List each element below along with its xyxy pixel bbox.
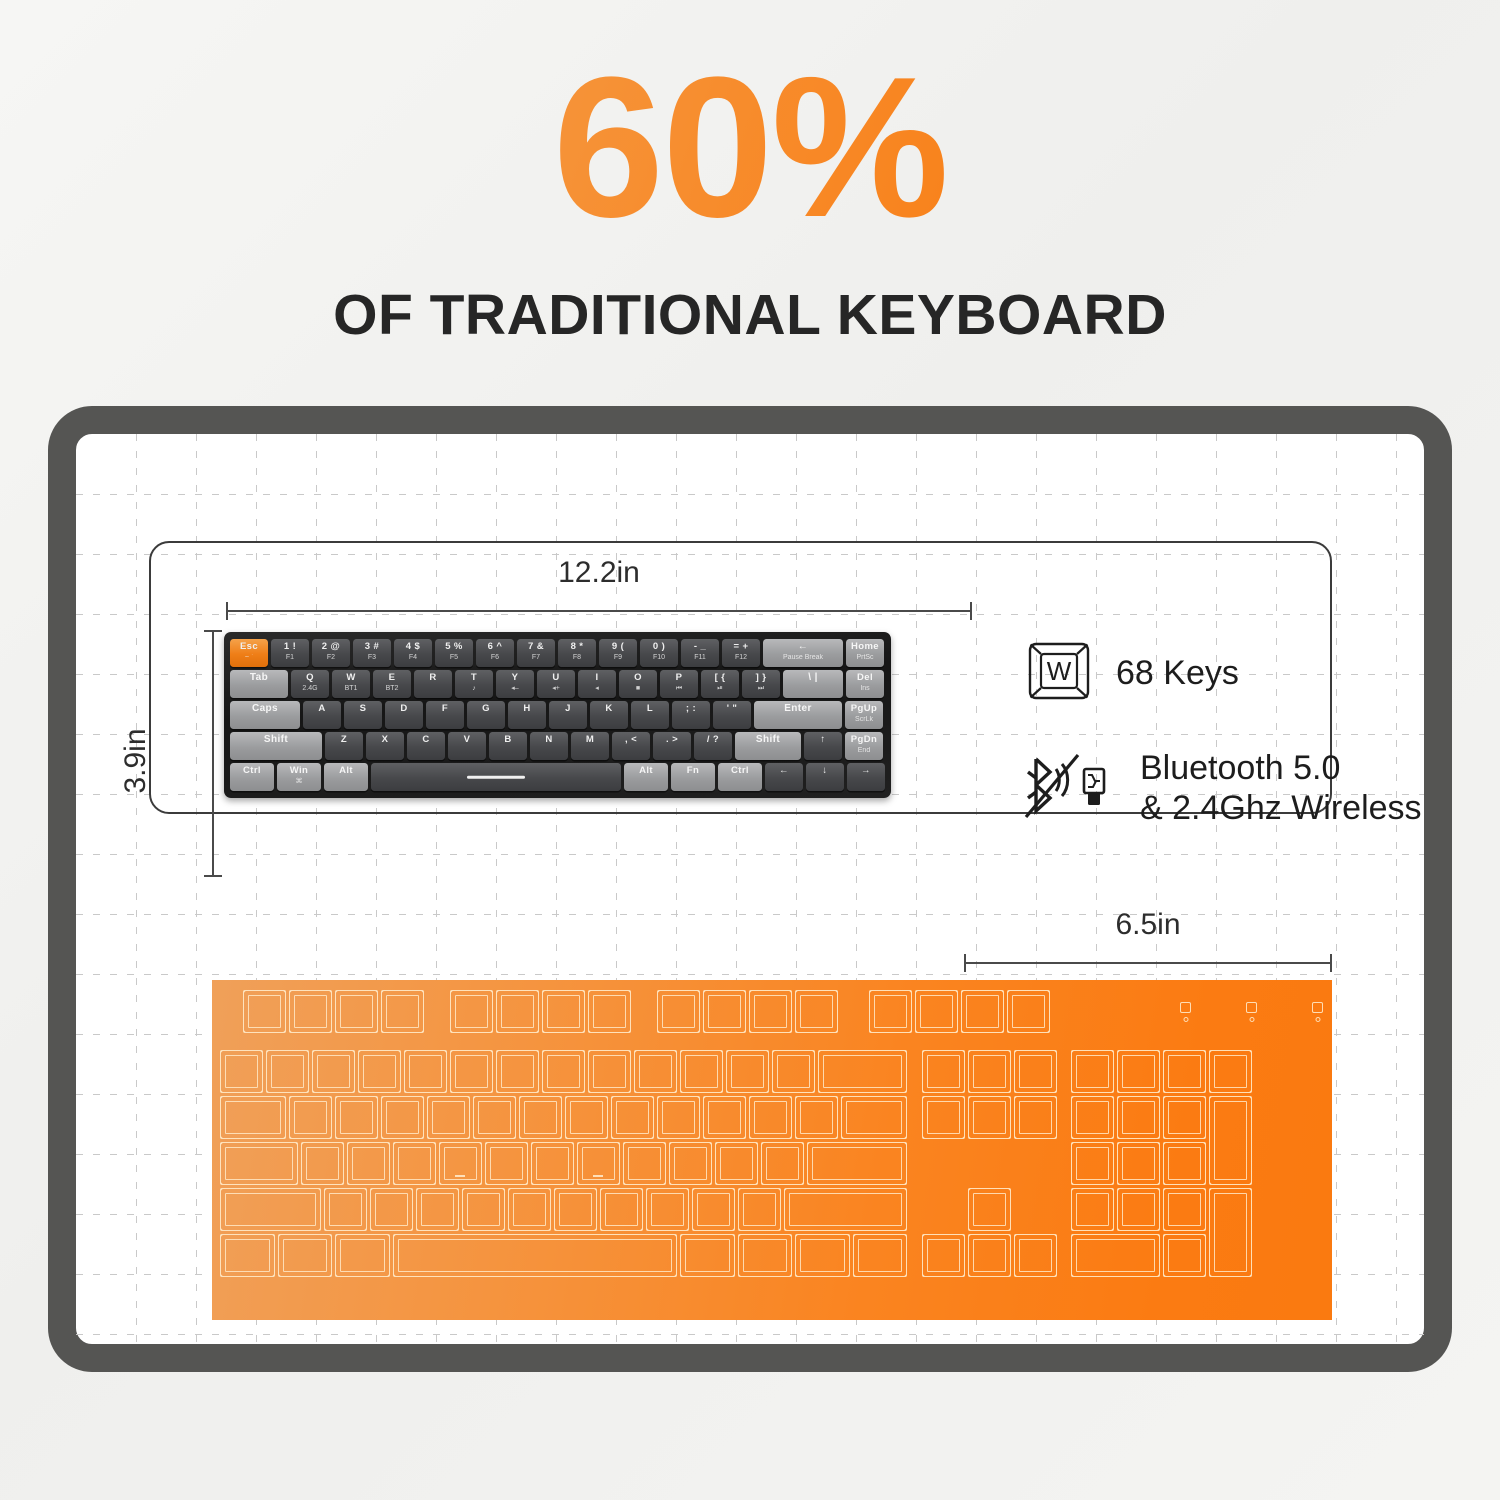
- key-secondary-legend: ◂: [595, 684, 599, 693]
- fullsize-key: [749, 990, 792, 1033]
- fullsize-key: [462, 1188, 505, 1231]
- key-primary-legend: Z: [341, 735, 347, 745]
- fullsize-key: [289, 990, 332, 1033]
- fullsize-key: [519, 1096, 562, 1139]
- fullsize-key: [818, 1050, 907, 1093]
- key-primary-legend: 2 @: [322, 642, 340, 652]
- key-0[interactable]: 0 )F10: [640, 639, 678, 667]
- key-del[interactable]: DelIns: [846, 670, 884, 698]
- fullsize-key: [266, 1050, 309, 1093]
- fullsize-key: [496, 1050, 539, 1093]
- key-secondary-legend: F11: [694, 653, 706, 662]
- key-space[interactable]: - _F11: [681, 639, 719, 667]
- svg-text:W: W: [1047, 656, 1072, 686]
- key-5[interactable]: 5 %F5: [435, 639, 473, 667]
- key-primary-legend: G: [482, 704, 490, 714]
- key-primary-legend: Alt: [639, 766, 653, 776]
- keycap-w-icon: W: [1028, 642, 1090, 705]
- key-h[interactable]: H: [508, 701, 546, 729]
- key-win[interactable]: Win⌘: [277, 763, 321, 791]
- fullsize-key: [841, 1096, 907, 1139]
- key-primary-legend: 4 $: [406, 642, 420, 652]
- key-primary-legend: ↑: [820, 735, 825, 745]
- feature-wireless-line2: & 2.4Ghz Wireless: [1140, 788, 1422, 828]
- fullsize-key: [703, 1096, 746, 1139]
- key-u[interactable]: U◂+: [537, 670, 575, 698]
- key-primary-legend: 1 !: [284, 642, 296, 652]
- key-4[interactable]: 4 $F4: [394, 639, 432, 667]
- fullsize-key: [611, 1096, 654, 1139]
- fullsize-key: [795, 990, 838, 1033]
- key-d[interactable]: D: [385, 701, 423, 729]
- key-space[interactable]: ; :: [672, 701, 710, 729]
- fullsize-keyboard-silhouette: [212, 980, 1332, 1320]
- key-secondary-legend: F8: [573, 653, 581, 662]
- fullsize-key: [243, 990, 286, 1033]
- fullsize-key: [531, 1142, 574, 1185]
- key-space[interactable]: →: [847, 763, 885, 791]
- fullsize-key: [680, 1234, 735, 1277]
- fullsize-key: [968, 1096, 1011, 1139]
- key-fn[interactable]: Fn: [671, 763, 715, 791]
- key-primary-legend: Ctrl: [243, 766, 261, 776]
- fullsize-key: [1014, 1050, 1057, 1093]
- key-primary-legend: F: [442, 704, 448, 714]
- key-b[interactable]: B: [489, 732, 527, 760]
- fullsize-key: [542, 990, 585, 1033]
- key-a[interactable]: A: [303, 701, 341, 729]
- key-alt[interactable]: Alt: [324, 763, 368, 791]
- key-primary-legend: 3 #: [365, 642, 379, 652]
- key-3[interactable]: 3 #F3: [353, 639, 391, 667]
- fullsize-key: [393, 1234, 678, 1277]
- key-primary-legend: 5 %: [445, 642, 463, 652]
- led-dot: [1315, 1017, 1320, 1022]
- key-pgup[interactable]: PgUpScrLk: [845, 701, 883, 729]
- key-pgdn[interactable]: PgDnEnd: [845, 732, 883, 760]
- key-secondary-legend: F12: [735, 653, 747, 662]
- fullsize-key: [1071, 1188, 1114, 1231]
- fullsize-key: [312, 1050, 355, 1093]
- feature-wireless: Bluetooth 5.0 & 2.4Ghz Wireless: [1022, 748, 1422, 828]
- key-primary-legend: 9 (: [612, 642, 624, 652]
- key-secondary-legend: F3: [368, 653, 376, 662]
- spacebar-marking: [467, 776, 525, 779]
- key-ctrl[interactable]: Ctrl: [718, 763, 762, 791]
- key-secondary-legend: PrtSc: [856, 653, 873, 662]
- fullsize-key: [473, 1096, 516, 1139]
- key-6[interactable]: 6 ^F6: [476, 639, 514, 667]
- keyboard-row: CtrlWin⌘AltAltFnCtrl←↓→: [230, 763, 885, 791]
- fullsize-key: [634, 1050, 677, 1093]
- key-home[interactable]: HomePrtSc: [846, 639, 884, 667]
- fullsize-key: [381, 990, 424, 1033]
- key-primary-legend: E: [389, 673, 396, 683]
- key-ctrl[interactable]: Ctrl: [230, 763, 274, 791]
- key-primary-legend: B: [504, 735, 511, 745]
- fullsize-key: [715, 1142, 758, 1185]
- key-space[interactable]: = +F12: [722, 639, 760, 667]
- key-j[interactable]: J: [549, 701, 587, 729]
- fullsize-key: [1209, 1050, 1252, 1093]
- fullsize-key: [220, 1050, 263, 1093]
- fullsize-key: [404, 1050, 447, 1093]
- key-primary-legend: U: [552, 673, 559, 683]
- key-caps[interactable]: Caps: [230, 701, 300, 729]
- fullsize-key: [692, 1188, 735, 1231]
- fullsize-key: [968, 1188, 1011, 1231]
- key-primary-legend: . >: [666, 735, 678, 745]
- fullsize-key: [968, 1234, 1011, 1277]
- key-enter[interactable]: Enter: [754, 701, 842, 729]
- fullsize-key: [703, 990, 746, 1033]
- key-primary-legend: Shift: [756, 735, 780, 745]
- fullsize-key: [1117, 1050, 1160, 1093]
- key-primary-legend: A: [318, 704, 325, 714]
- fullsize-key: [795, 1096, 838, 1139]
- feature-wireless-label: Bluetooth 5.0 & 2.4Ghz Wireless: [1140, 748, 1422, 828]
- key-primary-legend: Shift: [264, 735, 288, 745]
- fullsize-key: [669, 1142, 712, 1185]
- grid-line-vertical: [1336, 434, 1337, 1344]
- fullsize-key: [1071, 1096, 1114, 1139]
- fullsize-key: [738, 1188, 781, 1231]
- key-q[interactable]: Q2.4G: [291, 670, 329, 698]
- keyboard-row: Esc~ `1 !F12 @F23 #F34 $F45 %F56 ^F67 &F…: [230, 639, 885, 667]
- key-i[interactable]: I◂: [578, 670, 616, 698]
- key-space[interactable]: ←Pause Break: [763, 639, 843, 667]
- fullsize-key: [220, 1142, 298, 1185]
- fullsize-key: [370, 1188, 413, 1231]
- fullsize-key: [1163, 1050, 1206, 1093]
- key-7[interactable]: 7 &F7: [517, 639, 555, 667]
- fullsize-key: [358, 1050, 401, 1093]
- key-primary-legend: X: [382, 735, 389, 745]
- feature-68-keys-label: 68 Keys: [1116, 653, 1239, 693]
- key-primary-legend: , <: [625, 735, 637, 745]
- key-space[interactable]: \ |: [783, 670, 843, 698]
- key-primary-legend: = +: [734, 642, 749, 652]
- key-z[interactable]: Z: [325, 732, 363, 760]
- fullsize-key: [1071, 1142, 1114, 1185]
- fullsize-key: [968, 1050, 1011, 1093]
- key-primary-legend: ] }: [756, 673, 767, 683]
- key-secondary-legend: ◂+: [552, 684, 560, 693]
- key-space[interactable]: [371, 763, 621, 791]
- fullsize-key: [1014, 1096, 1057, 1139]
- dim-width-compact-label: 12.2in: [226, 556, 972, 590]
- fullsize-key: [496, 990, 539, 1033]
- key-tab[interactable]: Tab: [230, 670, 288, 698]
- key-r[interactable]: R: [414, 670, 452, 698]
- key-primary-legend: H: [523, 704, 530, 714]
- diagram-frame: 12.2in 3.9in Esc~ `1 !F12 @F23 #F34 $F45…: [48, 406, 1452, 1372]
- fullsize-key: [427, 1096, 470, 1139]
- fullsize-key: [1071, 1234, 1160, 1277]
- key-primary-legend: Y: [512, 673, 519, 683]
- grid-line-horizontal: [76, 1334, 1424, 1335]
- fullsize-key: [335, 990, 378, 1033]
- grid-line-vertical: [136, 434, 137, 1344]
- fullsize-key: [922, 1234, 965, 1277]
- fullsize-key: [1163, 1234, 1206, 1277]
- headline-percent: 60%: [0, 48, 1500, 248]
- key-secondary-legend: F7: [532, 653, 540, 662]
- key-w[interactable]: WBT1: [332, 670, 370, 698]
- key-g[interactable]: G: [467, 701, 505, 729]
- key-secondary-legend: F6: [491, 653, 499, 662]
- key-primary-legend: M: [586, 735, 594, 745]
- fullsize-key: [922, 1096, 965, 1139]
- grid-line-horizontal: [76, 974, 1424, 975]
- led-indicator: [1246, 1002, 1257, 1013]
- grid-line-horizontal: [76, 854, 1424, 855]
- fullsize-key: [749, 1096, 792, 1139]
- key-alt[interactable]: Alt: [624, 763, 668, 791]
- fullsize-key: [588, 990, 631, 1033]
- fullsize-key: [577, 1142, 620, 1185]
- fullsize-key: [1117, 1142, 1160, 1185]
- key-secondary-legend: ~ `: [245, 653, 253, 662]
- fullsize-key: [220, 1188, 321, 1231]
- key-primary-legend: C: [422, 735, 429, 745]
- homing-bar: [455, 1175, 465, 1177]
- fullsize-key: [289, 1096, 332, 1139]
- fullsize-key: [565, 1096, 608, 1139]
- key-space[interactable]: ↓: [806, 763, 844, 791]
- key-1[interactable]: 1 !F1: [271, 639, 309, 667]
- homing-bar: [593, 1175, 603, 1177]
- fullsize-key: [772, 1050, 815, 1093]
- key-shift[interactable]: Shift: [230, 732, 322, 760]
- key-x[interactable]: X: [366, 732, 404, 760]
- key-primary-legend: / ?: [707, 735, 719, 745]
- key-space[interactable]: ' ": [713, 701, 751, 729]
- key-primary-legend: \ |: [808, 673, 818, 683]
- fullsize-key: [657, 1096, 700, 1139]
- key-primary-legend: Fn: [687, 766, 699, 776]
- fullsize-key: [761, 1142, 804, 1185]
- key-secondary-legend: 2.4G: [302, 684, 317, 693]
- fullsize-key: [807, 1142, 908, 1185]
- fullsize-key: [278, 1234, 333, 1277]
- key-secondary-legend: End: [858, 746, 870, 755]
- key-primary-legend: K: [605, 704, 612, 714]
- key-primary-legend: 6 ^: [488, 642, 503, 652]
- key-primary-legend: R: [429, 673, 436, 683]
- key-primary-legend: Q: [306, 673, 314, 683]
- led-indicator: [1180, 1002, 1191, 1013]
- key-primary-legend: J: [565, 704, 571, 714]
- fullsize-key: [961, 990, 1004, 1033]
- fullsize-key: [335, 1234, 390, 1277]
- key-primary-legend: L: [647, 704, 653, 714]
- fullsize-key: [1007, 990, 1050, 1033]
- key-primary-legend: ↓: [822, 766, 827, 776]
- fullsize-key: [1163, 1188, 1206, 1231]
- key-l[interactable]: L: [631, 701, 669, 729]
- fullsize-key: [542, 1050, 585, 1093]
- key-secondary-legend: Pause Break: [783, 653, 823, 662]
- key-secondary-legend: ◂–: [511, 684, 518, 693]
- key-space[interactable]: . >: [653, 732, 691, 760]
- key-esc[interactable]: Esc~ `: [230, 639, 268, 667]
- keyboard-row: ShiftZXCVBNM, <. >/ ?Shift↑PgDnEnd: [230, 732, 885, 760]
- fullsize-key: [738, 1234, 793, 1277]
- key-primary-legend: W: [346, 673, 355, 683]
- key-space[interactable]: [ {⏯: [701, 670, 739, 698]
- key-primary-legend: V: [464, 735, 471, 745]
- grid-line-horizontal: [76, 494, 1424, 495]
- keyboard-row: TabQ2.4GWBT1EBT2RT♪Y◂–U◂+I◂O■P⏮[ {⏯] }⏭\…: [230, 670, 885, 698]
- fullsize-key: [680, 1050, 723, 1093]
- key-shift[interactable]: Shift: [735, 732, 801, 760]
- key-primary-legend: T: [471, 673, 477, 683]
- key-primary-legend: ; :: [686, 704, 696, 714]
- key-primary-legend: [ {: [715, 673, 726, 683]
- key-s[interactable]: S: [344, 701, 382, 729]
- key-t[interactable]: T♪: [455, 670, 493, 698]
- led-dot: [1183, 1017, 1188, 1022]
- fullsize-key: [220, 1096, 286, 1139]
- key-space[interactable]: , <: [612, 732, 650, 760]
- key-primary-legend: N: [545, 735, 552, 745]
- key-o[interactable]: O■: [619, 670, 657, 698]
- key-primary-legend: 7 &: [528, 642, 544, 652]
- dim-width-extra-label: 6.5in: [964, 908, 1332, 942]
- key-primary-legend: Del: [857, 673, 873, 683]
- fullsize-key: [335, 1096, 378, 1139]
- key-secondary-legend: BT1: [345, 684, 358, 693]
- fullsize-key: [554, 1188, 597, 1231]
- fullsize-key: [588, 1050, 631, 1093]
- key-primary-legend: PgDn: [851, 735, 877, 745]
- key-space[interactable]: / ?: [694, 732, 732, 760]
- fullsize-key: [915, 990, 958, 1033]
- key-primary-legend: 8 *: [571, 642, 584, 652]
- key-space[interactable]: ] }⏭: [742, 670, 780, 698]
- compact-keyboard[interactable]: Esc~ `1 !F12 @F23 #F34 $F45 %F56 ^F67 &F…: [224, 632, 891, 798]
- key-y[interactable]: Y◂–: [496, 670, 534, 698]
- key-secondary-legend: ⏮: [676, 684, 682, 693]
- grid-line-vertical: [1396, 434, 1397, 1344]
- key-v[interactable]: V: [448, 732, 486, 760]
- key-2[interactable]: 2 @F2: [312, 639, 350, 667]
- fullsize-key: [726, 1050, 769, 1093]
- key-secondary-legend: ⌘: [296, 777, 303, 786]
- key-m[interactable]: M: [571, 732, 609, 760]
- key-secondary-legend: ⏯: [717, 684, 723, 693]
- key-secondary-legend: Ins: [860, 684, 869, 693]
- key-secondary-legend: F5: [450, 653, 458, 662]
- key-primary-legend: I: [595, 673, 598, 683]
- fullsize-key: [623, 1142, 666, 1185]
- fullsize-key: [1209, 1188, 1252, 1277]
- fullsize-key: [1117, 1188, 1160, 1231]
- fullsize-key: [1014, 1234, 1057, 1277]
- key-secondary-legend: ⏭: [758, 684, 764, 693]
- key-secondary-legend: F9: [614, 653, 622, 662]
- fullsize-key: [381, 1096, 424, 1139]
- fullsize-key: [784, 1188, 908, 1231]
- key-primary-legend: →: [861, 766, 871, 776]
- key-primary-legend: 0 ): [653, 642, 665, 652]
- led-indicator: [1312, 1002, 1323, 1013]
- key-c[interactable]: C: [407, 732, 445, 760]
- key-primary-legend: O: [634, 673, 642, 683]
- key-primary-legend: Enter: [784, 704, 812, 714]
- promo-infographic: 60% OF TRADITIONAL KEYBOARD 12.2in 3.9in…: [0, 0, 1500, 1500]
- key-secondary-legend: ♪: [472, 684, 476, 693]
- fullsize-key: [450, 1050, 493, 1093]
- fullsize-key: [508, 1188, 551, 1231]
- key-f[interactable]: F: [426, 701, 464, 729]
- key-primary-legend: S: [360, 704, 367, 714]
- headline-subtitle: OF TRADITIONAL KEYBOARD: [0, 282, 1500, 348]
- fullsize-key: [1163, 1142, 1206, 1185]
- key-p[interactable]: P⏮: [660, 670, 698, 698]
- fullsize-key: [220, 1234, 275, 1277]
- key-secondary-legend: ■: [636, 684, 640, 693]
- fullsize-key: [853, 1234, 908, 1277]
- keyboard-row: CapsASDFGHJKL; :' "EnterPgUpScrLk: [230, 701, 885, 729]
- dim-height-compact-label: 3.9in: [119, 661, 153, 861]
- key-secondary-legend: F1: [286, 653, 294, 662]
- key-primary-legend: ←: [798, 642, 808, 652]
- fullsize-key: [324, 1188, 367, 1231]
- key-primary-legend: - _: [694, 642, 706, 652]
- key-9[interactable]: 9 (F9: [599, 639, 637, 667]
- key-primary-legend: Win: [290, 766, 309, 776]
- key-secondary-legend: ScrLk: [855, 715, 873, 724]
- key-8[interactable]: 8 *F8: [558, 639, 596, 667]
- fullsize-key: [1163, 1096, 1206, 1139]
- key-primary-legend: Home: [851, 642, 879, 652]
- fullsize-key: [657, 990, 700, 1033]
- fullsize-key: [301, 1142, 344, 1185]
- key-primary-legend: Tab: [250, 673, 268, 683]
- key-primary-legend: ←: [779, 766, 789, 776]
- key-space[interactable]: ←: [765, 763, 803, 791]
- fullsize-key: [1209, 1096, 1252, 1185]
- led-dot: [1249, 1017, 1254, 1022]
- key-secondary-legend: F2: [327, 653, 335, 662]
- fullsize-key: [393, 1142, 436, 1185]
- key-secondary-legend: F10: [653, 653, 665, 662]
- fullsize-key: [347, 1142, 390, 1185]
- key-primary-legend: PgUp: [851, 704, 877, 714]
- key-secondary-legend: BT2: [386, 684, 399, 693]
- feature-wireless-line1: Bluetooth 5.0: [1140, 748, 1422, 788]
- key-primary-legend: ' ": [727, 704, 738, 714]
- fullsize-key: [922, 1050, 965, 1093]
- fullsize-key: [416, 1188, 459, 1231]
- feature-68-keys: W 68 Keys: [1028, 642, 1239, 705]
- key-e[interactable]: EBT2: [373, 670, 411, 698]
- key-n[interactable]: N: [530, 732, 568, 760]
- fullsize-key: [439, 1142, 482, 1185]
- fullsize-key: [795, 1234, 850, 1277]
- key-primary-legend: D: [400, 704, 407, 714]
- bluetooth-usb-dongle-icon: [1022, 751, 1114, 826]
- fullsize-key: [450, 990, 493, 1033]
- fullsize-key: [600, 1188, 643, 1231]
- key-space[interactable]: ↑: [804, 732, 842, 760]
- key-primary-legend: Esc: [240, 642, 258, 652]
- key-k[interactable]: K: [590, 701, 628, 729]
- fullsize-key: [1117, 1096, 1160, 1139]
- key-primary-legend: P: [676, 673, 683, 683]
